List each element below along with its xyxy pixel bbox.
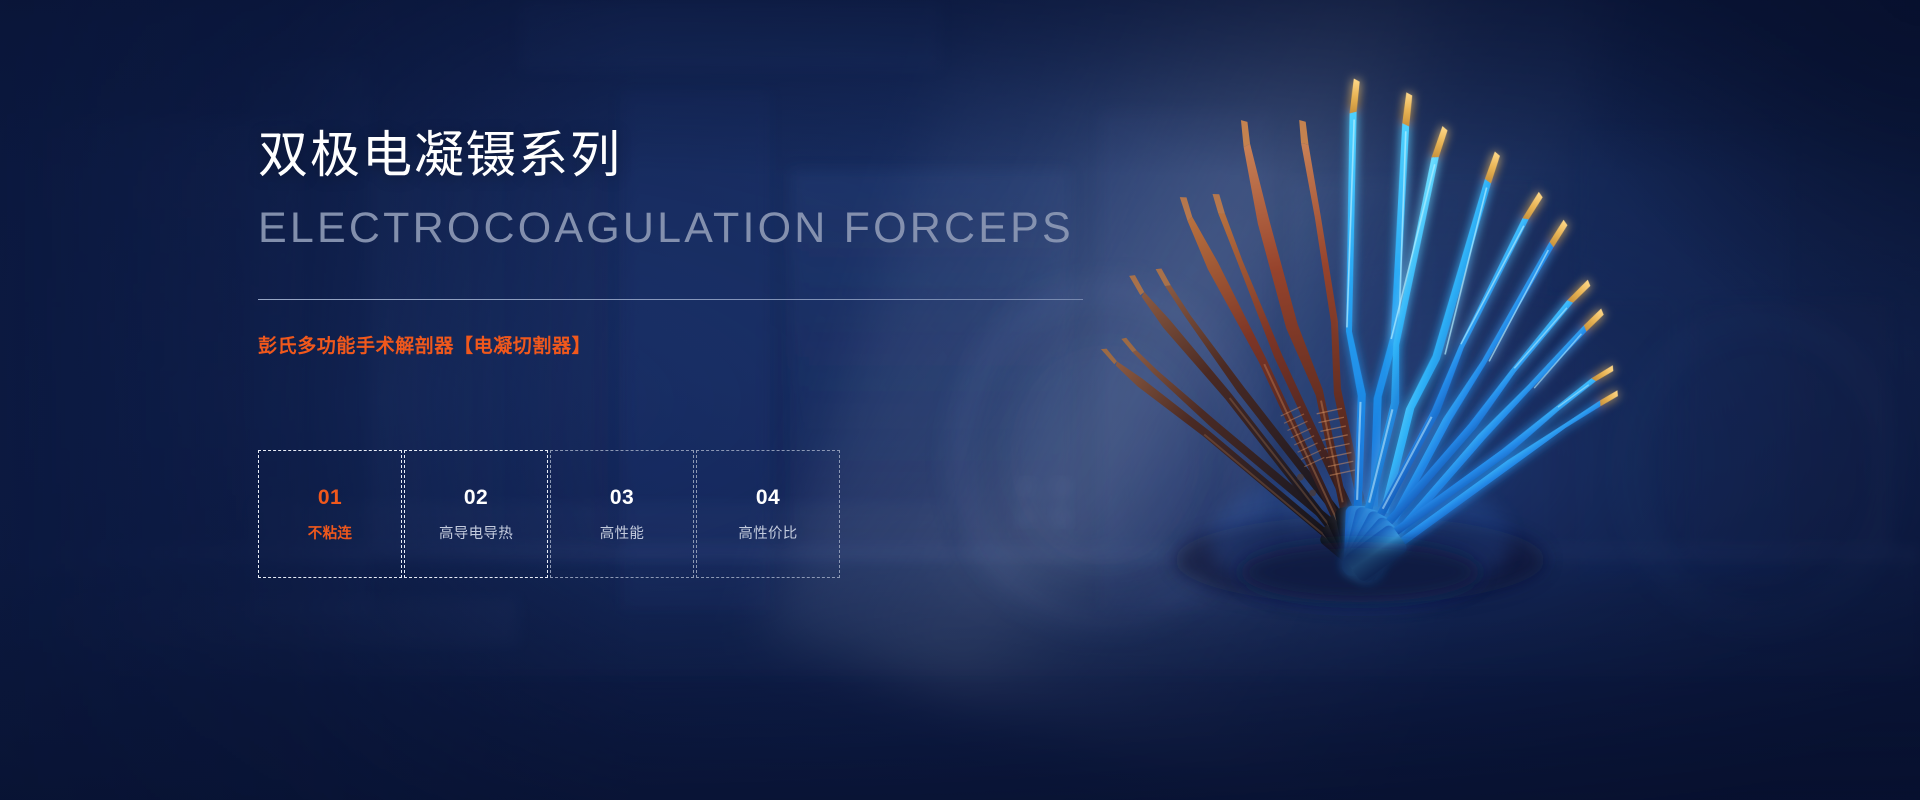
forceps-product-image <box>1060 60 1680 620</box>
product-subtitle: 彭氏多功能手术解剖器【电凝切割器】 <box>258 337 591 356</box>
feature-item-04[interactable]: 04 高性价比 <box>696 450 840 578</box>
title-divider <box>258 299 1083 300</box>
product-banner: 双极电凝镊系列 ELECTROCOAGULATION FORCEPS 彭氏多功能… <box>0 0 1920 800</box>
feature-item-01[interactable]: 01 不粘连 <box>258 450 402 578</box>
feature-label: 不粘连 <box>308 527 352 542</box>
page-title-english: ELECTROCOAGULATION FORCEPS <box>258 207 1074 250</box>
feature-label: 高性能 <box>600 527 644 542</box>
feature-item-03[interactable]: 03 高性能 <box>550 450 694 578</box>
feature-item-02[interactable]: 02 高导电导热 <box>404 450 548 578</box>
feature-list: 01 不粘连 02 高导电导热 03 高性能 04 高性价比 <box>258 450 958 580</box>
feature-label: 高导电导热 <box>439 527 513 542</box>
feature-number: 03 <box>610 487 634 508</box>
feature-number: 02 <box>464 487 488 508</box>
feature-number: 04 <box>756 487 780 508</box>
feature-label: 高性价比 <box>738 527 797 542</box>
page-title: 双极电凝镊系列 <box>258 130 622 180</box>
feature-number: 01 <box>318 487 342 508</box>
banner-text-block: 双极电凝镊系列 ELECTROCOAGULATION FORCEPS 彭氏多功能… <box>250 0 1150 800</box>
